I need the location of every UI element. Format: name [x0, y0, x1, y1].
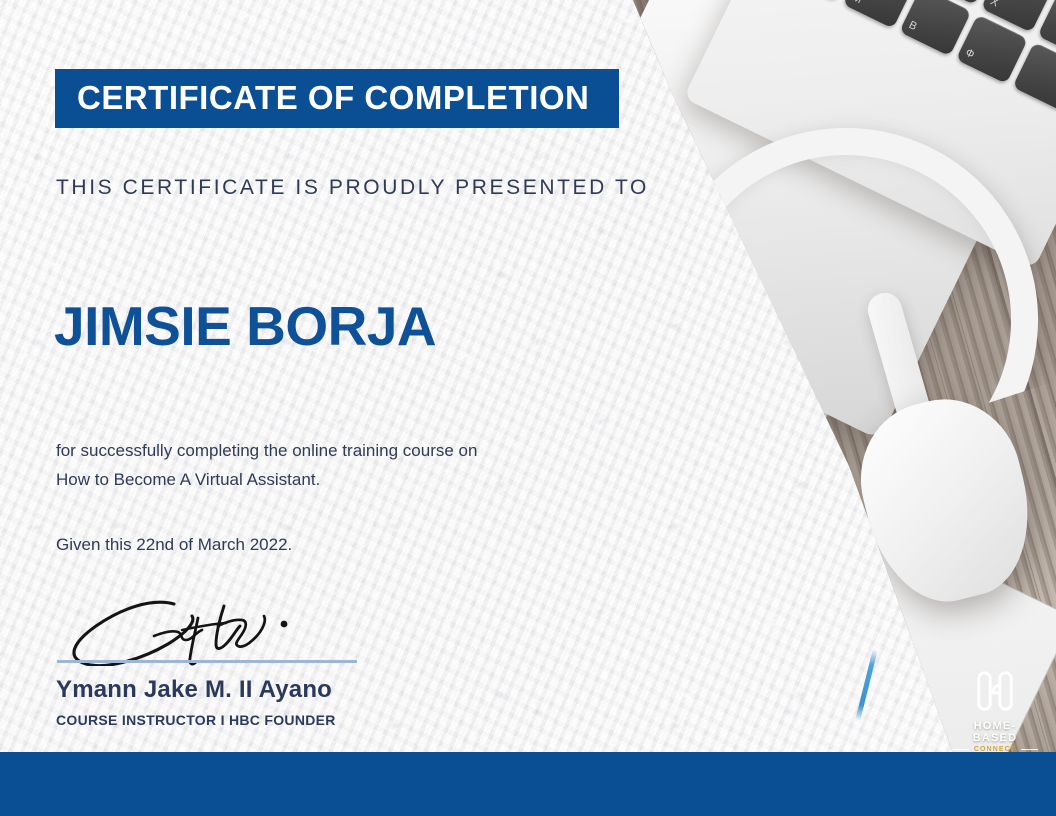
completion-statement: for successfully completing the online t… — [56, 436, 477, 494]
title-banner: CERTIFICATE OF COMPLETION — [55, 69, 619, 128]
signature-block: Ymann Jake M. II Ayano COURSE INSTRUCTOR… — [56, 596, 376, 662]
logo-subtitle: CONNECT — [974, 746, 1016, 753]
home-based-monogram-icon — [972, 668, 1018, 714]
signer-role: COURSE INSTRUCTOR I HBC FOUNDER — [56, 712, 336, 728]
signer-name: Ymann Jake M. II Ayano — [56, 676, 332, 704]
logo-dash-right — [1021, 749, 1038, 750]
completion-statement-line-2: How to Become A Virtual Assistant. — [56, 465, 477, 494]
page-title: CERTIFICATE OF COMPLETION — [77, 79, 589, 117]
bottom-color-band — [0, 752, 1056, 816]
handwritten-signature-icon — [56, 596, 356, 666]
keyboard-keys: ~ | Z Ы D fn ctrl alt Я X cmd M B Ф — [729, 0, 1056, 151]
brand-logo: HOME-BASED CONNECT — [952, 668, 1038, 753]
logo-dash-left — [952, 749, 969, 750]
completion-statement-line-1: for successfully completing the online t… — [56, 436, 477, 465]
logo-subtitle-row: CONNECT — [952, 746, 1038, 753]
presented-to-label: THIS CERTIFICATE IS PROUDLY PRESENTED TO — [56, 176, 649, 200]
certificate-canvas: ~ | Z Ы D fn ctrl alt Я X cmd M B Ф — [0, 0, 1056, 816]
signature-dot — [281, 621, 288, 628]
signature-rule — [57, 660, 357, 663]
logo-wordmark: HOME-BASED — [952, 720, 1038, 744]
issue-date: Given this 22nd of March 2022. — [56, 530, 292, 559]
recipient-name: JIMSIE BORJA — [54, 294, 436, 358]
signature-mark — [56, 596, 356, 662]
